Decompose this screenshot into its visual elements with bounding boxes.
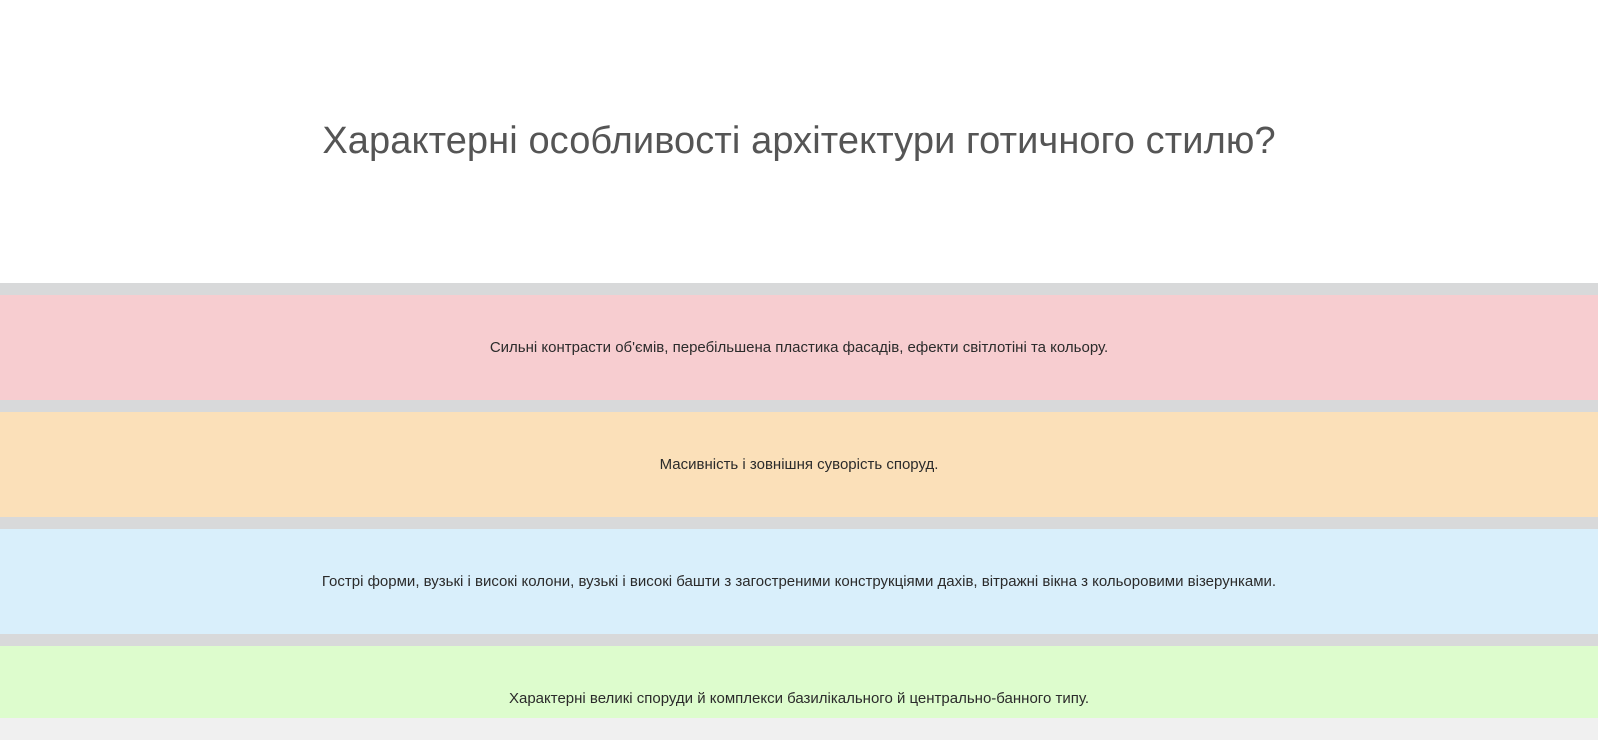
answer-option-3[interactable]: Гострі форми, вузькі і високі колони, ву… — [0, 529, 1598, 634]
answer-option-2[interactable]: Масивність і зовнішня суворість споруд. — [0, 412, 1598, 517]
answer-option-2-label: Масивність і зовнішня суворість споруд. — [660, 454, 939, 476]
quiz-app: Характерні особливості архітектури готич… — [0, 0, 1598, 740]
question-title: Характерні особливості архітектури готич… — [282, 118, 1315, 166]
answer-option-1-label: Сильні контрасти об'ємів, перебільшена п… — [490, 337, 1108, 359]
answer-options-list: Сильні контрасти об'ємів, перебільшена п… — [0, 283, 1598, 740]
question-header: Характерні особливості архітектури готич… — [0, 0, 1598, 283]
answer-option-3-label: Гострі форми, вузькі і високі колони, ву… — [322, 571, 1276, 593]
answer-option-1[interactable]: Сильні контрасти об'ємів, перебільшена п… — [0, 295, 1598, 400]
page-bottom-strip — [0, 718, 1598, 740]
answer-option-4-label: Характерні великі споруди й комплекси ба… — [509, 688, 1089, 710]
